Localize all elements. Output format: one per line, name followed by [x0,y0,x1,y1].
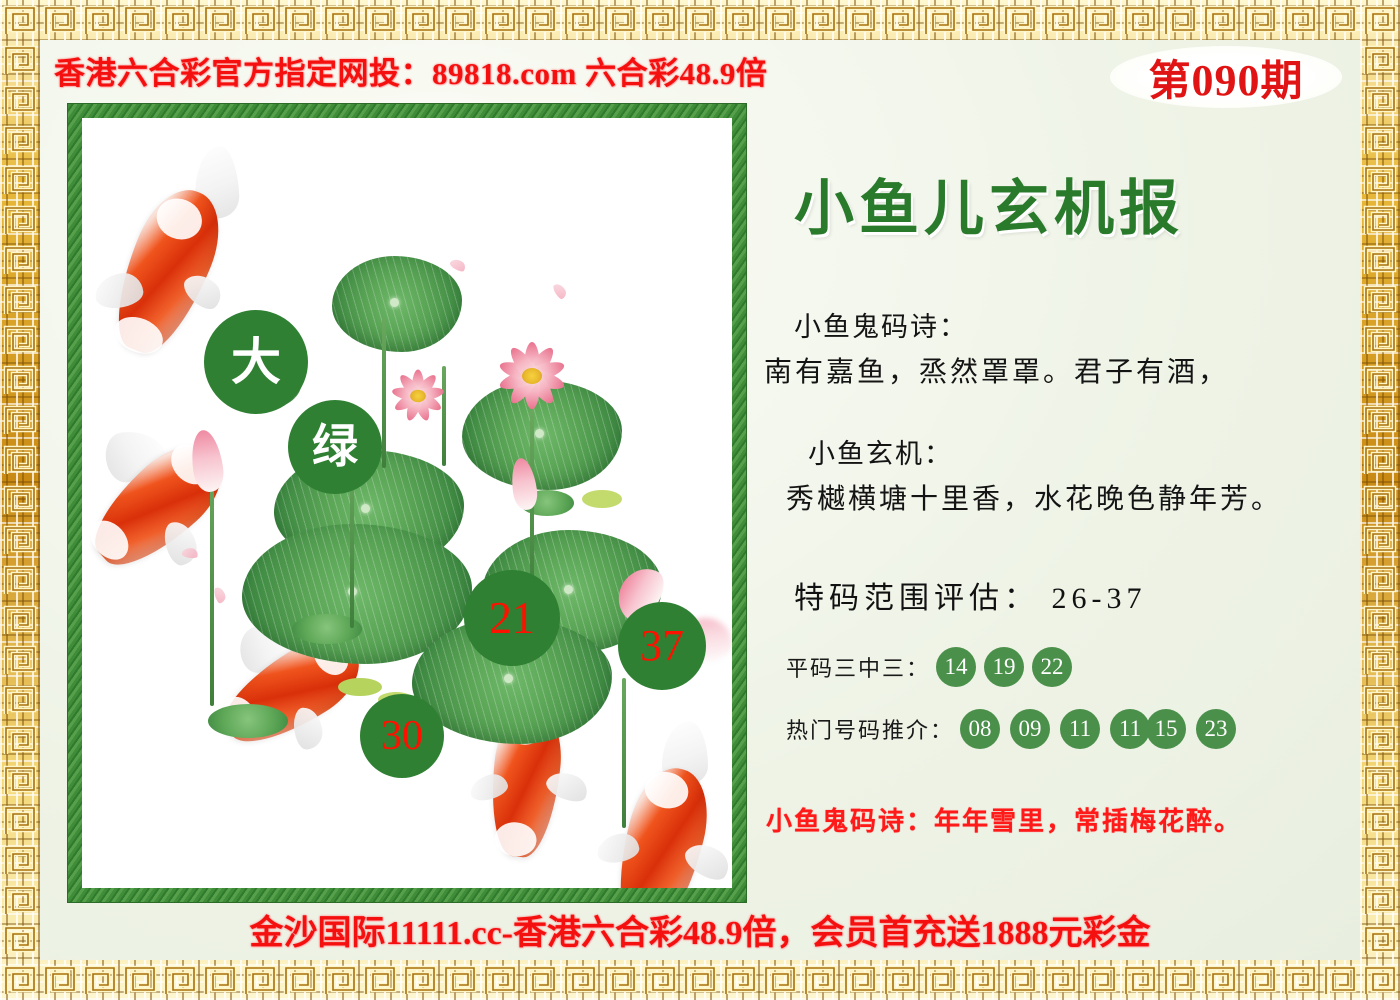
ball-group-2: 08 09 11 11 15 23 [960,709,1246,749]
ball-row-three-of-three: 平码三中三： 14 19 22 [786,647,1356,687]
lotus-pad [208,704,288,738]
lotus-stem [382,318,386,468]
info-column: 小鱼儿玄机报 小鱼鬼码诗： 南有嘉鱼，烝然罩罩。君子有酒， 小鱼玄机： 秀樾横塘… [756,116,1356,906]
poem-label-1: 小鱼鬼码诗： [794,305,1356,344]
red-poem-line: 小鱼鬼码诗：年年雪里，常插梅花醉。 [766,801,1356,838]
period-number: 090 [1192,56,1261,105]
lotus-flower [482,326,582,426]
koi-fish-5 [589,717,732,888]
poem-text-2: 秀樾横塘十里香，水花晚色静年芳。 [786,477,1356,517]
falling-petal [213,586,227,604]
falling-petal [552,282,569,301]
poem-text-1: 南有嘉鱼，烝然罩罩。君子有酒， [764,350,1356,390]
ball-row-label-1: 平码三中三： [786,651,930,683]
lottery-ball: 09 [1010,709,1050,749]
art-marker-lv: 绿 [288,400,382,494]
ball-row-hot-numbers: 热门号码推介： 08 09 11 11 15 23 [786,709,1356,749]
falling-petal [449,257,468,274]
greek-key-border-left [0,0,40,1000]
art-marker-da: 大 [204,310,308,414]
header-banner-text: 香港六合彩官方指定网投：89818.com 六合彩48.9倍 [54,48,767,93]
greek-key-border-bottom [0,960,1400,1000]
poem-block-1: 小鱼鬼码诗： 南有嘉鱼，烝然罩罩。君子有酒， [764,305,1356,390]
artwork-canvas: 大 绿 21 37 30 [82,118,732,888]
lotus-pad [338,678,382,696]
period-prefix: 第 [1148,59,1191,105]
period-badge: 第090期 [1110,46,1342,108]
lotus-leaf [332,256,462,352]
lottery-ball: 11 [1060,709,1100,749]
art-marker-21: 21 [464,570,560,666]
art-marker-37: 37 [618,602,706,690]
poem-label-2: 小鱼玄机： [808,432,1356,471]
lotus-stem [210,458,214,706]
poem-block-2: 小鱼玄机： 秀樾横塘十里香，水花晚色静年芳。 [764,432,1356,517]
greek-key-border-top [0,0,1400,40]
special-code-range: 特码范围评估： 26-37 [794,573,1356,617]
lottery-ball: 11 [1110,709,1150,749]
period-suffix: 期 [1261,59,1304,105]
lottery-ball: 15 [1146,709,1186,749]
artwork-frame: 大 绿 21 37 30 [68,104,746,902]
page-title: 小鱼儿玄机报 [794,160,1356,247]
lottery-ball: 23 [1196,709,1236,749]
art-marker-30: 30 [360,694,444,778]
lotus-pad [582,490,622,508]
period-badge-text: 第090期 [1148,47,1303,108]
ball-row-label-2: 热门号码推介： [786,713,954,745]
lotus-flower [387,365,449,427]
content-panel: 香港六合彩官方指定网投：89818.com 六合彩48.9倍 第090期 [40,40,1360,960]
lotus-stem [622,678,626,828]
greek-key-border-right [1360,0,1400,1000]
footer-promo-text: 金沙国际11111.cc-香港六合彩48.9倍，会员首充送1888元彩金 [40,905,1360,954]
lottery-ball: 19 [984,647,1024,687]
ball-group-1: 14 19 22 [936,647,1080,687]
lottery-ball: 14 [936,647,976,687]
lottery-ball: 08 [960,709,1000,749]
lottery-ball: 22 [1032,647,1072,687]
